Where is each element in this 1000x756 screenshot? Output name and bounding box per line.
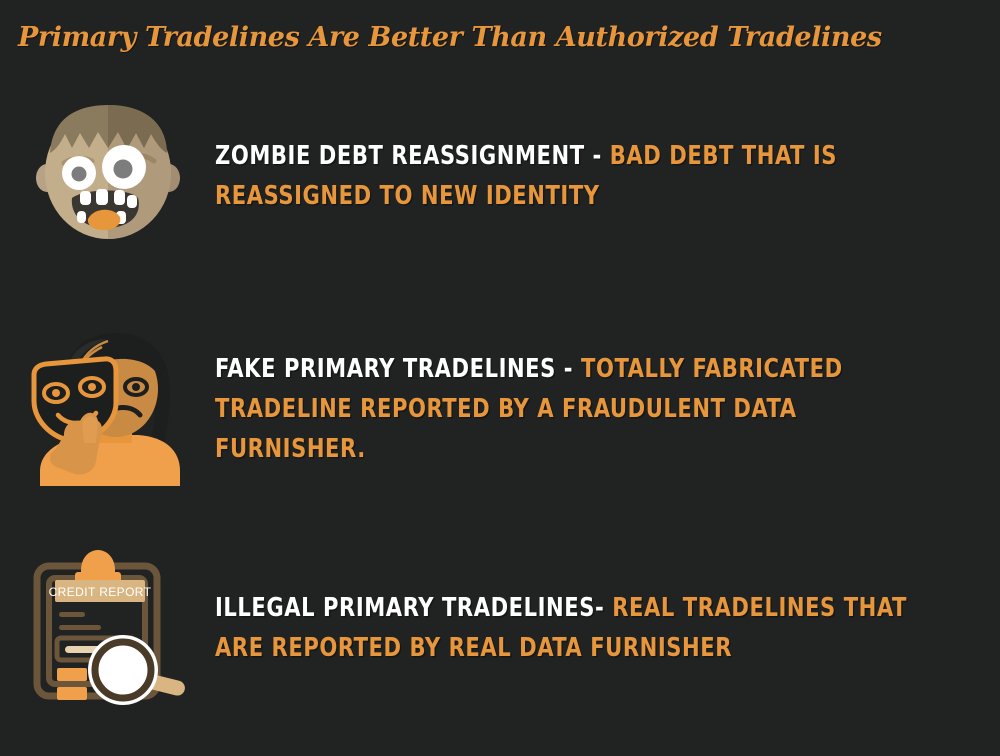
zombie-face-icon <box>0 96 215 256</box>
list-item-lead: FAKE PRIMARY TRADELINES - <box>215 354 581 384</box>
list-item-text: ILLEGAL PRIMARY TRADELINES- REAL TRADELI… <box>215 588 919 668</box>
list-item-lead: ILLEGAL PRIMARY TRADELINES- <box>215 593 612 623</box>
list-item-text-cell: FAKE PRIMARY TRADELINES - TOTALLY FABRIC… <box>215 349 1000 469</box>
person-holding-mask-icon-art <box>20 331 195 486</box>
list-item: CREDIT REPORT ILLEGAL PRIMARY TRA <box>0 540 1000 715</box>
list-item-text: ZOMBIE DEBT REASSIGNMENT - BAD DEBT THAT… <box>215 136 919 216</box>
list-item: ZOMBIE DEBT REASSIGNMENT - BAD DEBT THAT… <box>0 96 1000 256</box>
zombie-face-icon-art <box>28 101 188 251</box>
credit-report-banner-label: CREDIT REPORT <box>48 585 151 599</box>
list-item-text: FAKE PRIMARY TRADELINES - TOTALLY FABRIC… <box>215 349 919 469</box>
infographic-page: Primary Tradelines Are Better Than Autho… <box>0 0 1000 756</box>
credit-report-clipboard-magnifier-icon: CREDIT REPORT <box>0 540 215 715</box>
person-holding-mask-icon <box>0 326 215 491</box>
list-item-lead: ZOMBIE DEBT REASSIGNMENT - <box>215 141 610 171</box>
credit-report-clipboard-magnifier-icon-art: CREDIT REPORT <box>23 548 193 708</box>
page-title: Primary Tradelines Are Better Than Autho… <box>18 22 882 53</box>
list-item-text-cell: ILLEGAL PRIMARY TRADELINES- REAL TRADELI… <box>215 588 1000 668</box>
list-item: FAKE PRIMARY TRADELINES - TOTALLY FABRIC… <box>0 326 1000 491</box>
list-item-text-cell: ZOMBIE DEBT REASSIGNMENT - BAD DEBT THAT… <box>215 136 1000 216</box>
